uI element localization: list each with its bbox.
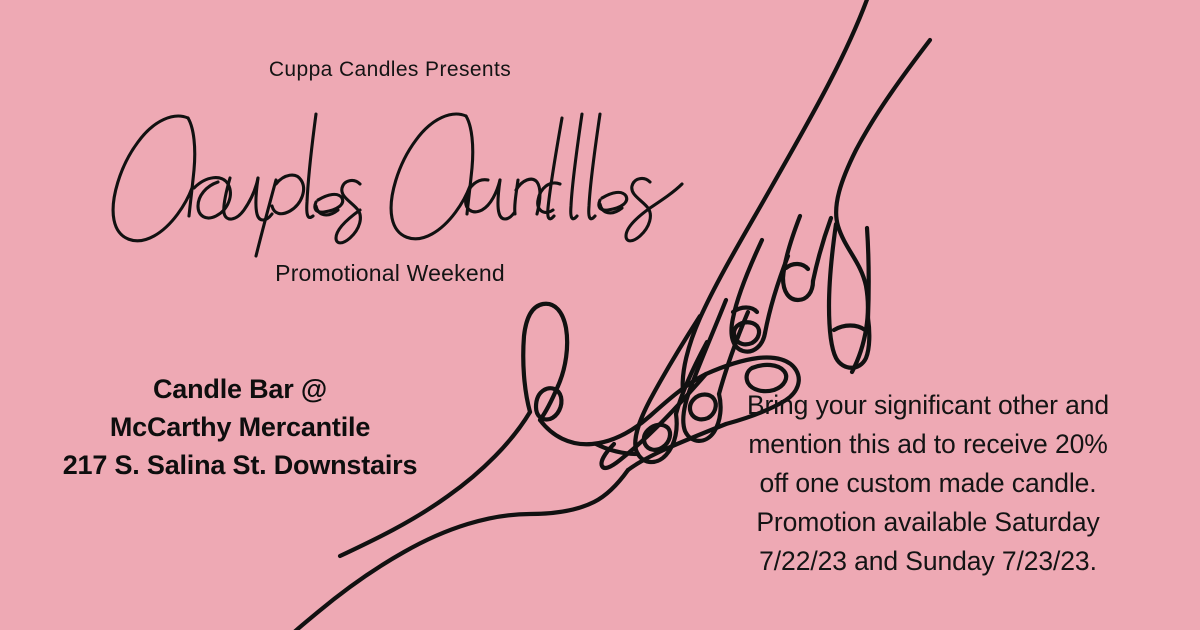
venue-line-3: 217 S. Salina St. Downstairs [20, 446, 460, 484]
presenter-line: Cuppa Candles Presents [130, 58, 650, 82]
poster-text-layer: Cuppa Candles Presents Couples Candles [0, 0, 1200, 630]
promo-line-5: 7/22/23 and Sunday 7/23/23. [718, 542, 1138, 581]
promotional-poster: Cuppa Candles Presents Couples Candles [0, 0, 1200, 630]
promo-line-2: mention this ad to receive 20% [718, 425, 1138, 464]
title-script-artwork: Couples Candles [70, 96, 710, 266]
promo-line-3: off one custom made candle. [718, 464, 1138, 503]
promo-line-4: Promotion available Saturday [718, 503, 1138, 542]
venue-line-1: Candle Bar @ [20, 370, 460, 408]
subtitle-line: Promotional Weekend [130, 260, 650, 287]
venue-line-2: McCarthy Mercantile [20, 408, 460, 446]
promo-line-1: Bring your significant other and [718, 386, 1138, 425]
page-title: Couples Candles [70, 96, 710, 266]
venue-address-block: Candle Bar @ McCarthy Mercantile 217 S. … [20, 370, 460, 484]
promo-details-block: Bring your significant other and mention… [718, 386, 1138, 581]
